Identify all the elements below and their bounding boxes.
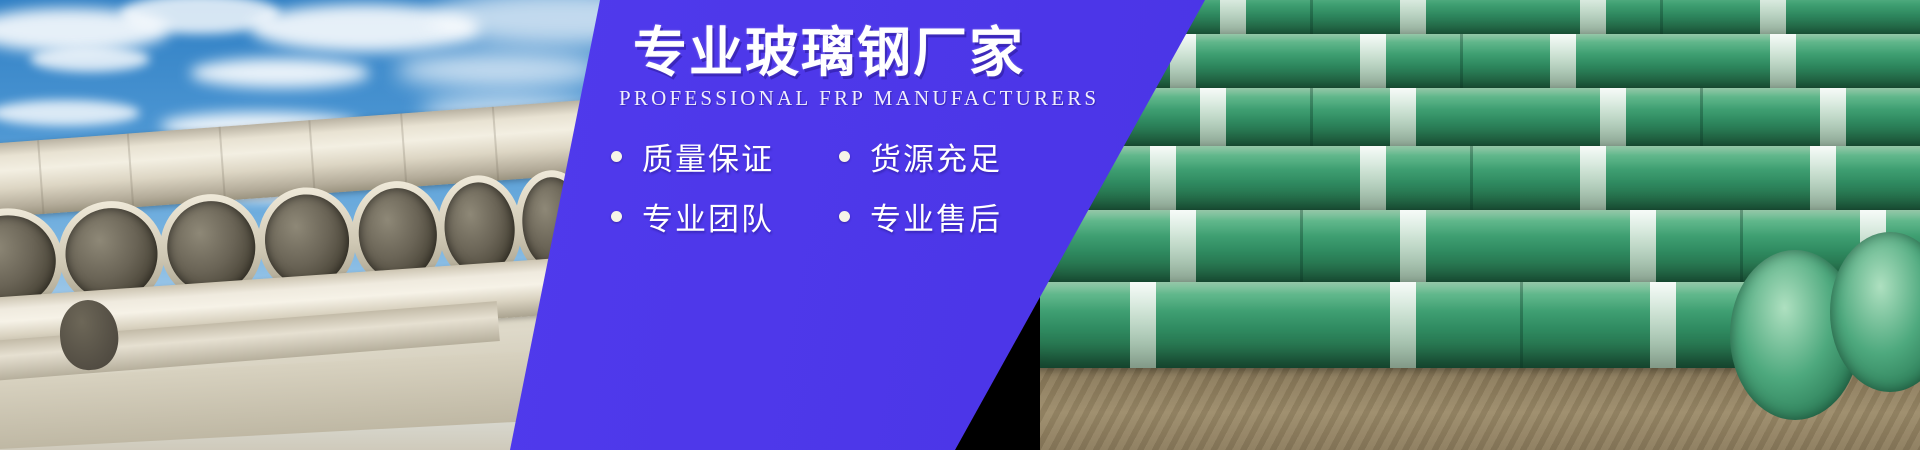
feature-bullet-label: 货源充足 bbox=[870, 134, 1002, 179]
cloud-shape bbox=[30, 46, 150, 72]
feature-bullet-list: 质量保证 货源充足 专业团队 专业售后 bbox=[611, 128, 1211, 244]
panel-content: 专业玻璃钢厂家 PROFESSIONAL FRP MANUFACTURERS 质… bbox=[575, 0, 1215, 450]
feature-bullet: 质量保证 bbox=[611, 128, 831, 184]
feature-bullet: 货源充足 bbox=[839, 128, 1059, 184]
banner-subtitle: PROFESSIONAL FRP MANUFACTURERS bbox=[619, 86, 1219, 111]
cloud-shape bbox=[395, 52, 605, 88]
feature-bullet-label: 质量保证 bbox=[642, 134, 774, 179]
bullet-dot-icon bbox=[611, 211, 622, 222]
cloud-shape bbox=[0, 100, 140, 126]
feature-bullet: 专业售后 bbox=[839, 188, 1059, 244]
feature-bullet-label: 专业售后 bbox=[870, 194, 1002, 239]
bullet-dot-icon bbox=[839, 151, 850, 162]
bullet-dot-icon bbox=[611, 151, 622, 162]
feature-bullet: 专业团队 bbox=[611, 188, 831, 244]
bullet-dot-icon bbox=[839, 211, 850, 222]
promo-banner: 专业玻璃钢厂家 PROFESSIONAL FRP MANUFACTURERS 质… bbox=[0, 0, 1920, 450]
cloud-shape bbox=[190, 58, 370, 88]
feature-bullet-label: 专业团队 bbox=[642, 194, 774, 239]
banner-title: 专业玻璃钢厂家 bbox=[633, 24, 1193, 82]
